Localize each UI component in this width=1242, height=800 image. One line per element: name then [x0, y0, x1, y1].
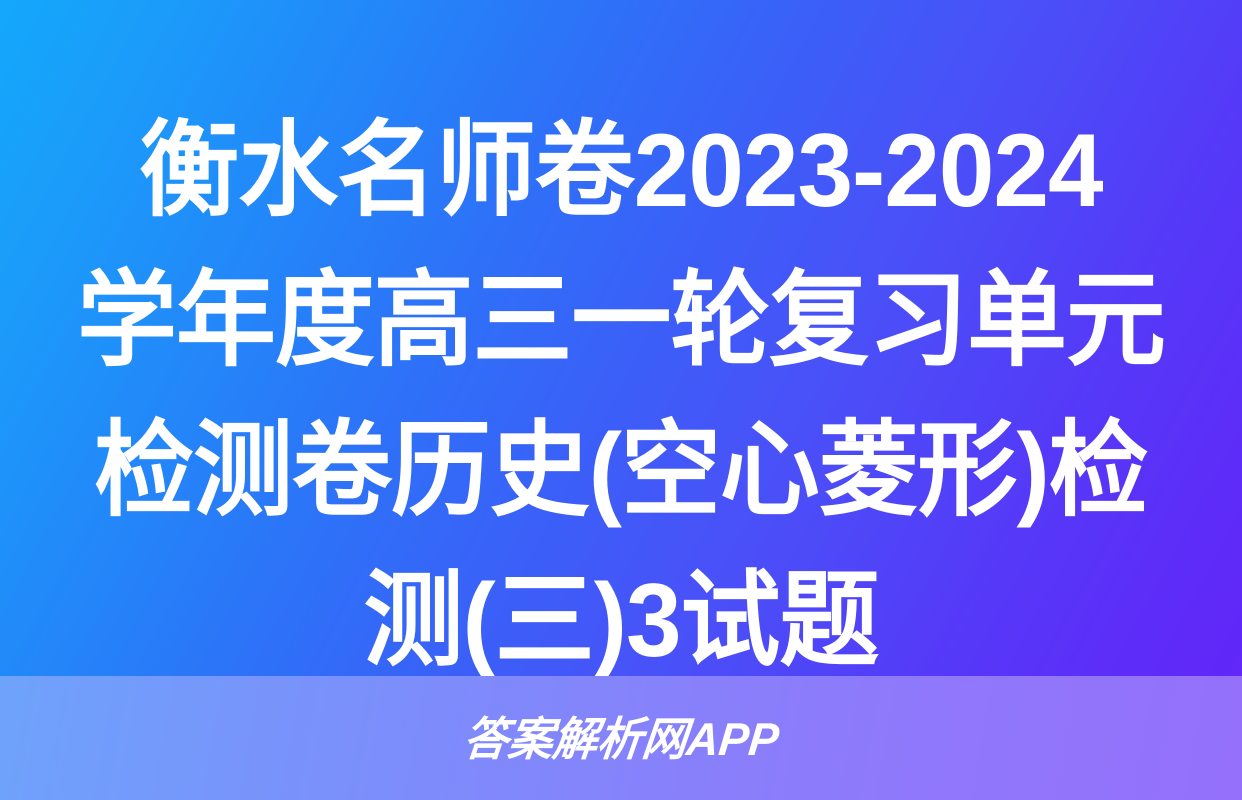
poster-canvas: 衡水名师卷2023-2024 学年度高三一轮复习单元 检测卷历史(空心菱形)检 …	[0, 0, 1242, 800]
title-line-1: 衡水名师卷2023-2024	[63, 96, 1179, 246]
title-line-4: 测(三)3试题	[63, 546, 1179, 696]
page-title: 衡水名师卷2023-2024 学年度高三一轮复习单元 检测卷历史(空心菱形)检 …	[0, 96, 1242, 696]
watermark-band: 答案解析网APP	[0, 676, 1242, 800]
title-line-3: 检测卷历史(空心菱形)检	[63, 396, 1179, 546]
title-line-2: 学年度高三一轮复习单元	[63, 246, 1179, 396]
watermark-text: 答案解析网APP	[461, 716, 781, 762]
